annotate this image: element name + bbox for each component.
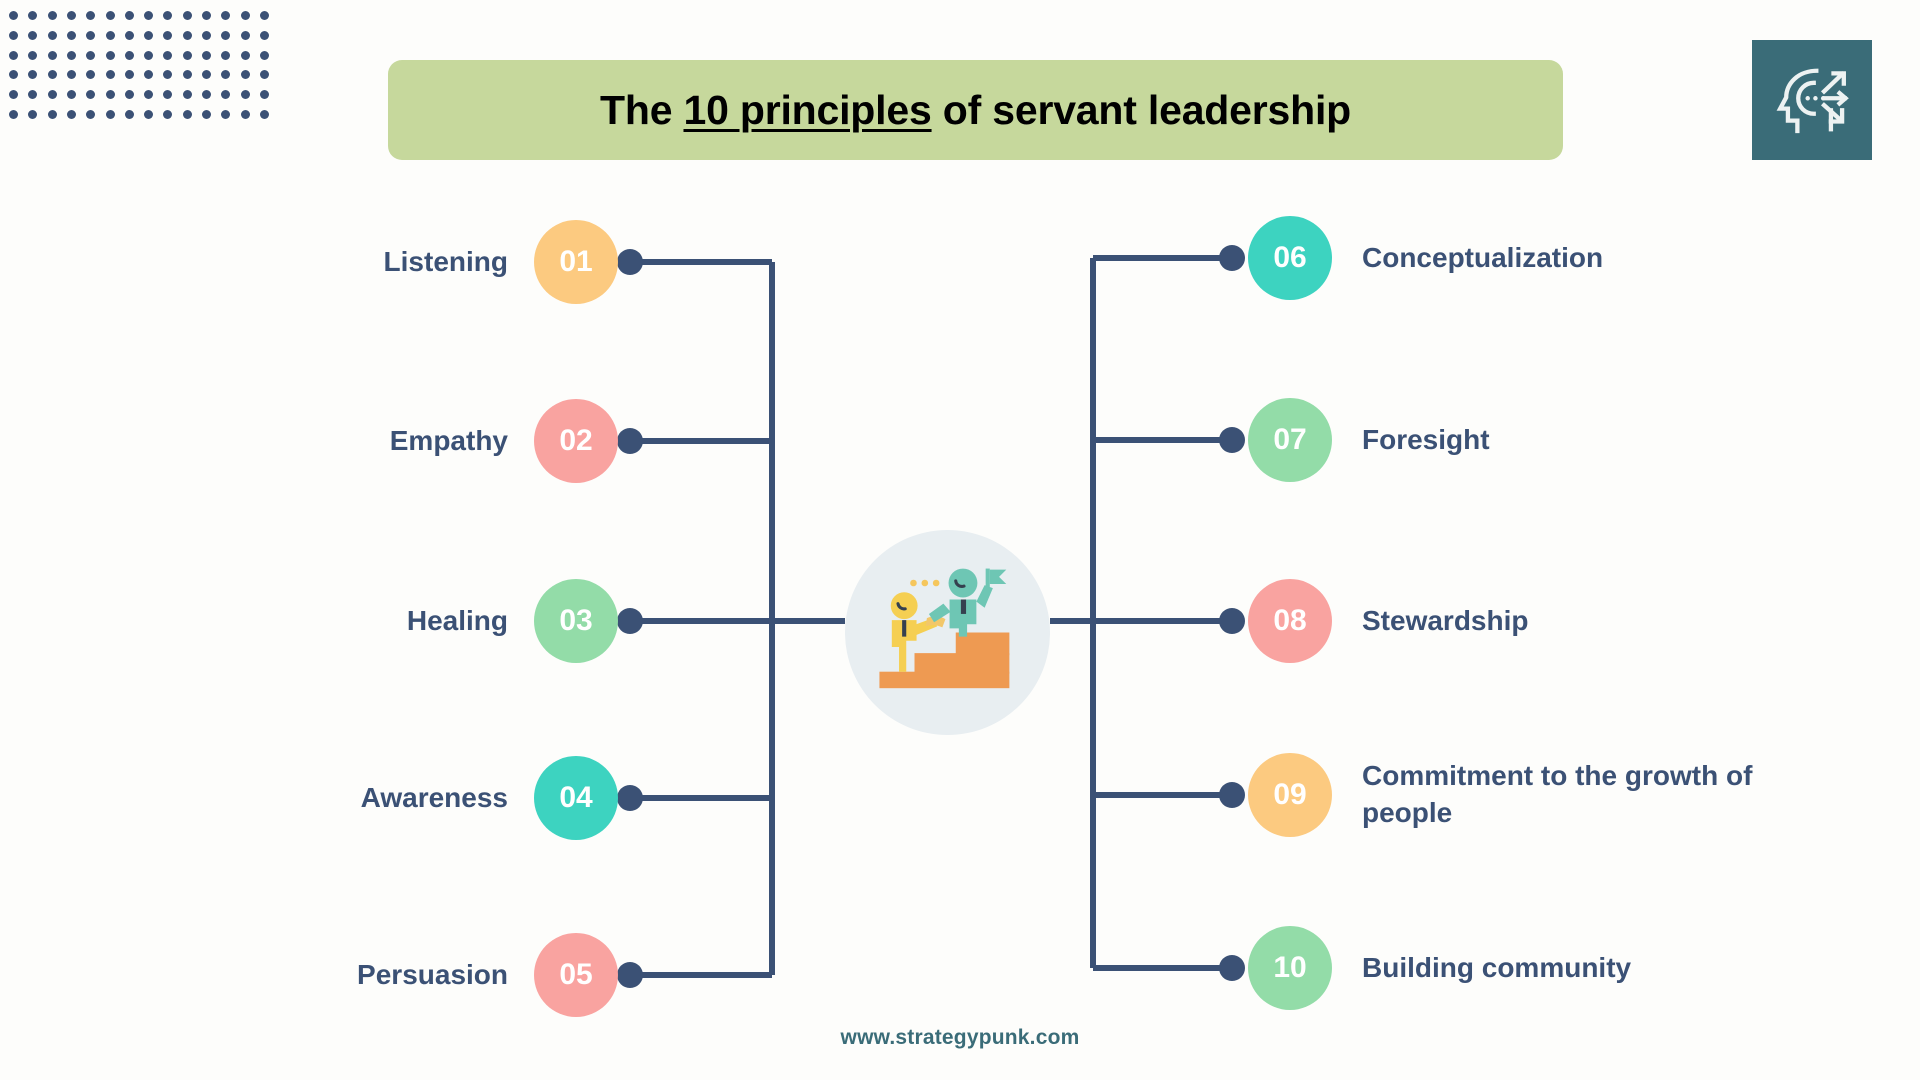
footer-url[interactable]: www.strategypunk.com	[0, 1026, 1920, 1050]
principle-row-03[interactable]: Healing 03	[407, 579, 618, 663]
principle-number-04: 04	[534, 756, 618, 840]
principle-row-08[interactable]: 08 Stewardship	[1248, 579, 1528, 663]
principle-number-06: 06	[1248, 216, 1332, 300]
principle-label-05: Persuasion	[357, 957, 508, 994]
principle-number-10: 10	[1248, 926, 1332, 1010]
principle-row-10[interactable]: 10 Building community	[1248, 926, 1631, 1010]
infographic-canvas: The 10 principles of servant leadership	[0, 0, 1920, 1080]
principle-number-08: 08	[1248, 579, 1332, 663]
principle-row-05[interactable]: Persuasion 05	[357, 933, 618, 1017]
principle-row-09[interactable]: 09 Commitment to the growth of people	[1248, 753, 1762, 837]
principle-row-01[interactable]: Listening 01	[384, 220, 618, 304]
principle-number-03: 03	[534, 579, 618, 663]
principle-label-02: Empathy	[390, 423, 508, 460]
principle-label-10: Building community	[1362, 950, 1631, 987]
principle-row-04[interactable]: Awareness 04	[361, 756, 618, 840]
principle-label-04: Awareness	[361, 780, 508, 817]
principle-row-07[interactable]: 07 Foresight	[1248, 398, 1490, 482]
principle-label-06: Conceptualization	[1362, 240, 1603, 277]
principle-label-08: Stewardship	[1362, 603, 1528, 640]
principle-number-07: 07	[1248, 398, 1332, 482]
teamwork-steps-icon	[865, 550, 1030, 715]
principle-row-06[interactable]: 06 Conceptualization	[1248, 216, 1603, 300]
principle-number-05: 05	[534, 933, 618, 1017]
principle-label-01: Listening	[384, 244, 508, 281]
center-illustration-badge	[845, 530, 1050, 735]
principle-number-01: 01	[534, 220, 618, 304]
principle-number-09: 09	[1248, 753, 1332, 837]
principle-label-03: Healing	[407, 603, 508, 640]
principle-number-02: 02	[534, 399, 618, 483]
principle-row-02[interactable]: Empathy 02	[390, 399, 618, 483]
principle-label-09: Commitment to the growth of people	[1362, 758, 1762, 832]
principle-label-07: Foresight	[1362, 422, 1490, 459]
